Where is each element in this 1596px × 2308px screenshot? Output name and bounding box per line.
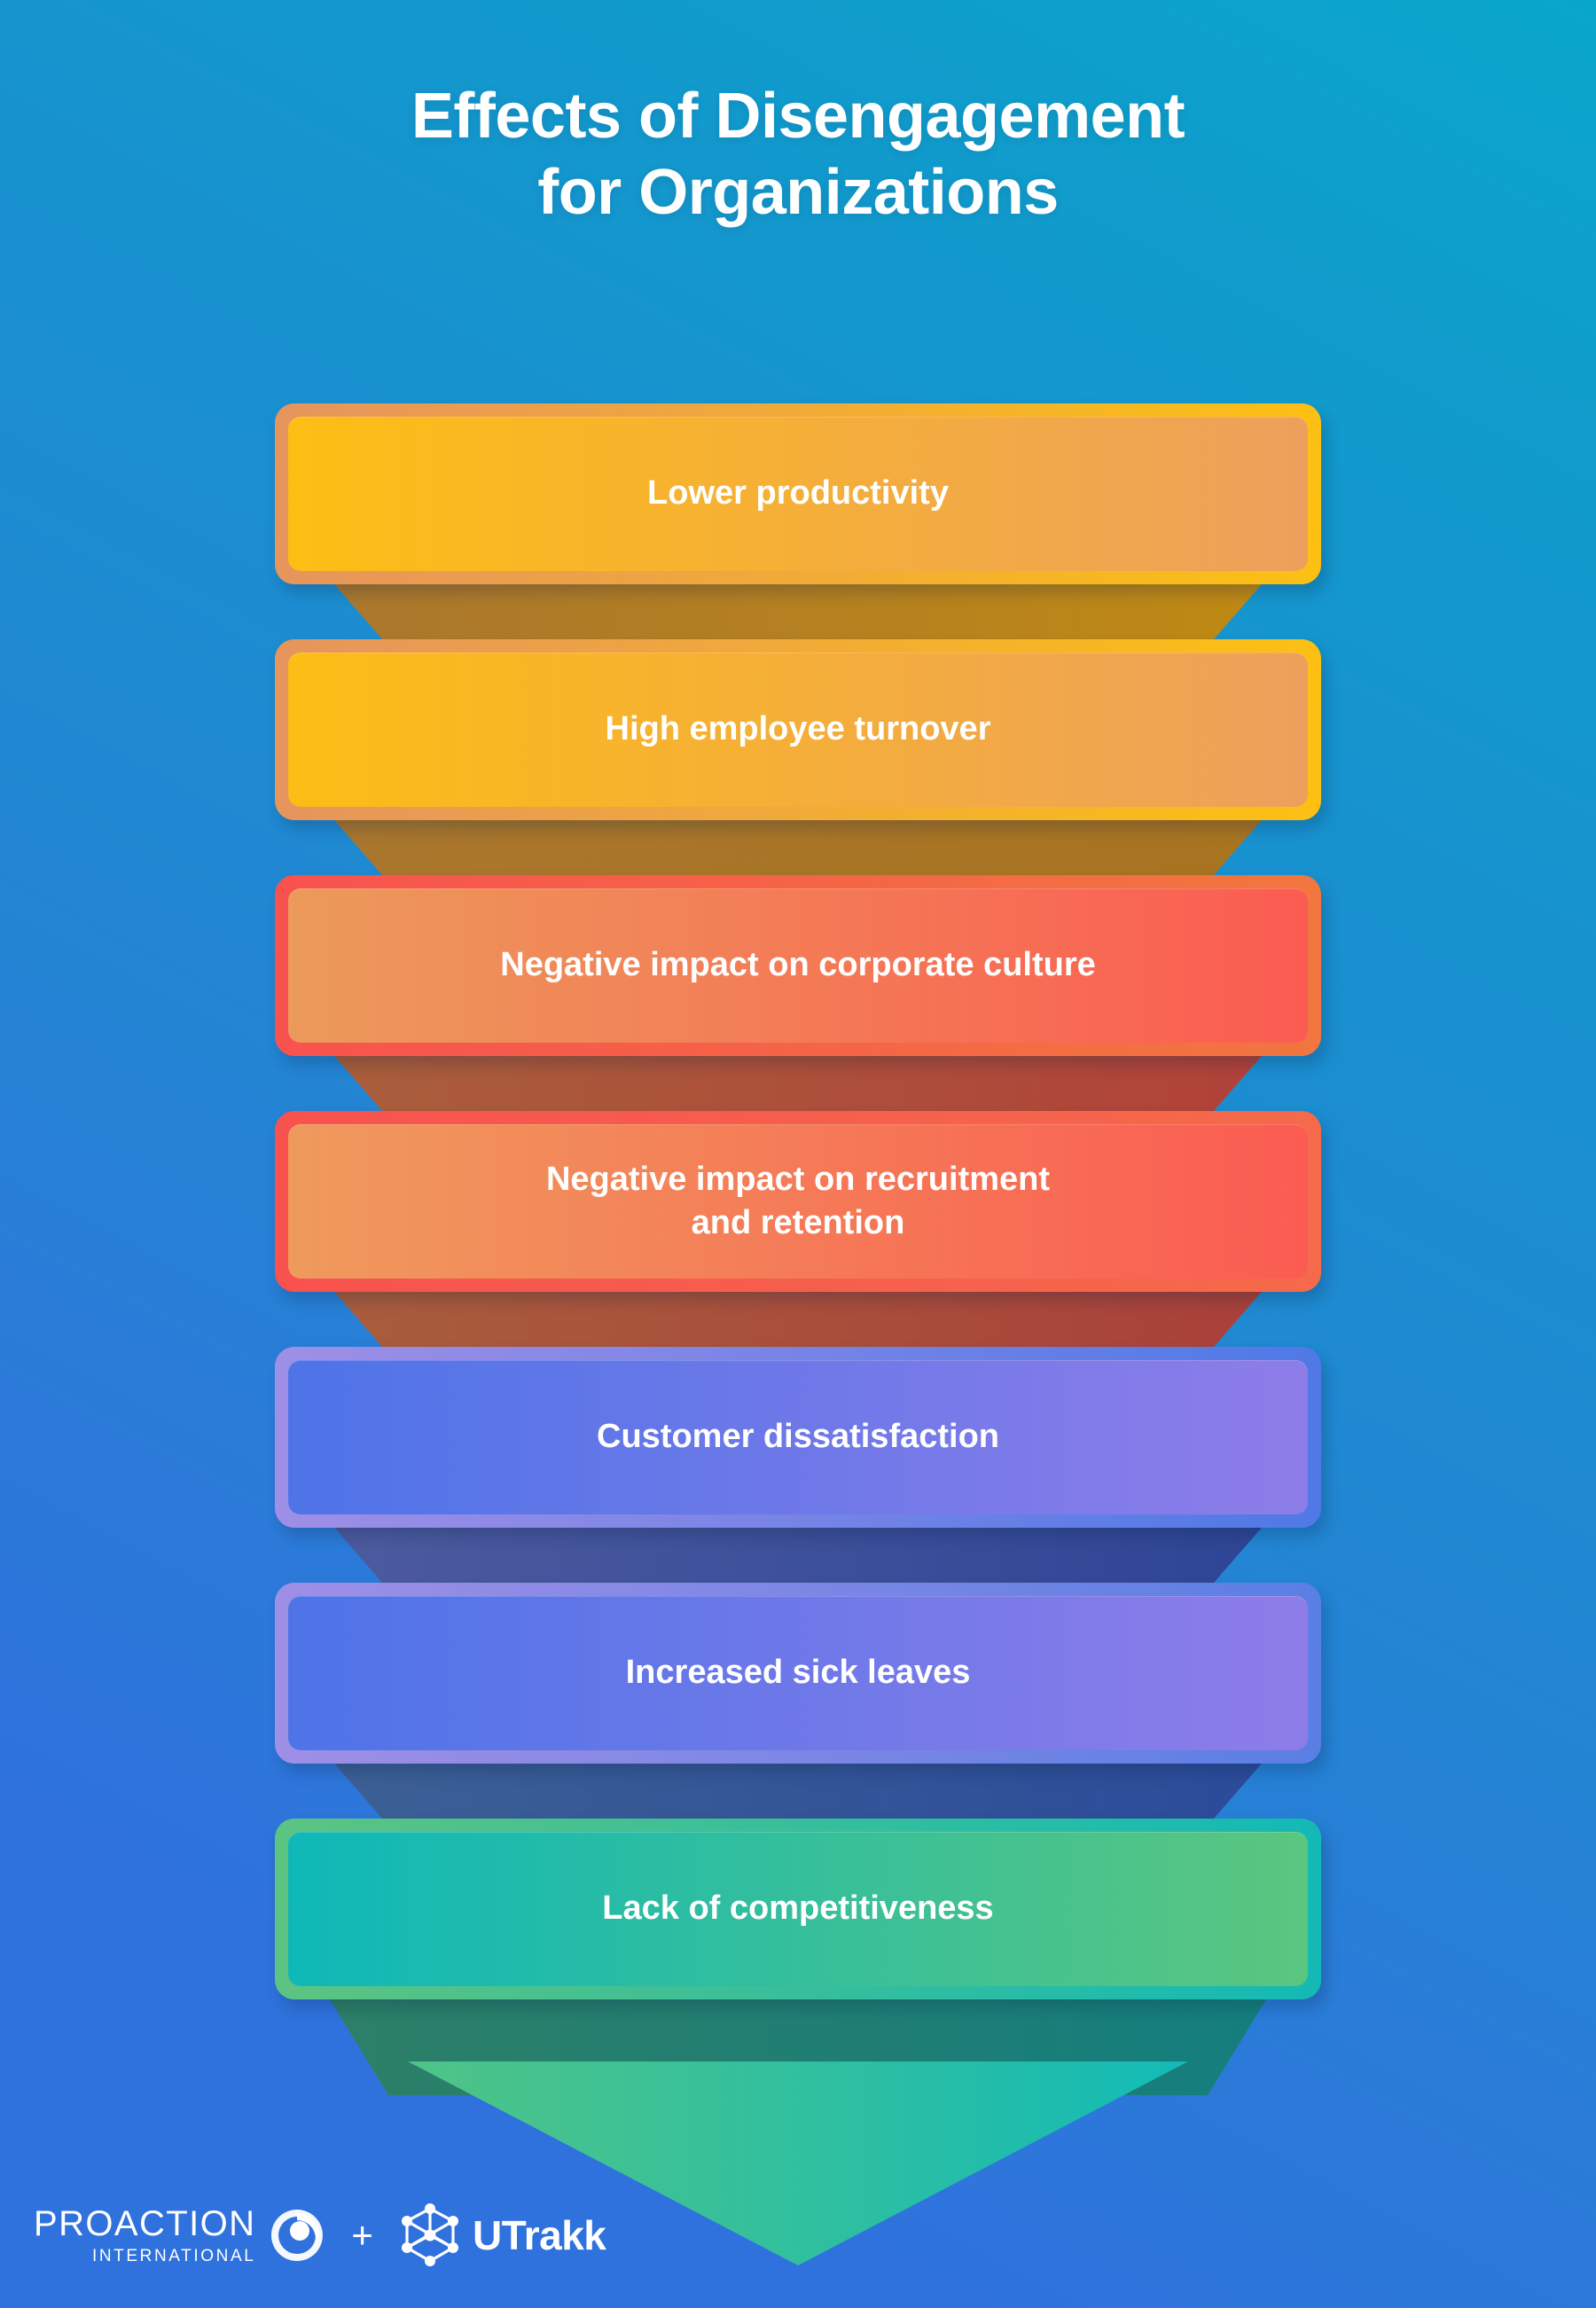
funnel-step: Lower productivity — [0, 403, 1596, 584]
funnel-step-card[interactable]: Negative impact on recruitmentand retent… — [275, 1111, 1321, 1292]
funnel-step-label-text: Increased sick leaves — [626, 1651, 971, 1694]
funnel-step-label-text: Negative impact on corporate culture — [500, 943, 1096, 987]
funnel-connector-shape — [275, 1287, 1321, 1354]
funnel-arrow-head — [408, 2062, 1188, 2265]
funnel-step-card[interactable]: Increased sick leaves — [275, 1583, 1321, 1764]
title-line-1: Effects of Disengagement — [411, 81, 1185, 152]
title-line-2: for Organizations — [106, 154, 1490, 231]
funnel-connector — [275, 579, 1321, 646]
funnel-step: Negative impact on recruitmentand retent… — [0, 1111, 1596, 1292]
funnel-step: Negative impact on corporate culture — [0, 875, 1596, 1056]
funnel-connector — [275, 1051, 1321, 1118]
funnel-connector — [275, 1522, 1321, 1590]
funnel-step-label-text: Negative impact on recruitmentand retent… — [546, 1158, 1050, 1246]
funnel-arrow — [0, 1999, 1596, 2265]
funnel-step-label: Negative impact on corporate culture — [288, 888, 1308, 1043]
funnel-step-label: Negative impact on recruitmentand retent… — [288, 1124, 1308, 1279]
funnel-step-card[interactable]: Customer dissatisfaction — [275, 1347, 1321, 1528]
funnel-step-label-text: Lower productivity — [647, 472, 949, 515]
funnel-step: High employee turnover — [0, 639, 1596, 820]
funnel-step-label-text: High employee turnover — [606, 708, 991, 751]
funnel-connector — [275, 815, 1321, 882]
funnel-step-label: Customer dissatisfaction — [288, 1360, 1308, 1514]
funnel-step-label: Lower productivity — [288, 417, 1308, 571]
funnel-step-label: Lack of competitiveness — [288, 1832, 1308, 1986]
funnel-step-label: Increased sick leaves — [288, 1596, 1308, 1750]
funnel-diagram: Lower productivityHigh employee turnover… — [0, 403, 1596, 2265]
funnel-step-label-text: Lack of competitiveness — [602, 1887, 993, 1930]
funnel-step-label-text: Customer dissatisfaction — [597, 1415, 999, 1459]
funnel-step: Lack of competitiveness — [0, 1819, 1596, 1999]
funnel-connector-shape — [275, 1051, 1321, 1118]
funnel-step-card[interactable]: Negative impact on corporate culture — [275, 875, 1321, 1056]
funnel-step-label: High employee turnover — [288, 653, 1308, 807]
funnel-connector — [275, 1287, 1321, 1354]
funnel-connector-shape — [275, 579, 1321, 646]
funnel-connector — [275, 1758, 1321, 1826]
funnel-step: Increased sick leaves — [0, 1583, 1596, 1764]
funnel-step-card[interactable]: Lower productivity — [275, 403, 1321, 584]
funnel-connector-shape — [275, 1522, 1321, 1590]
infographic-poster: Effects of Disengagement for Organizatio… — [0, 0, 1596, 2308]
funnel-step-card[interactable]: Lack of competitiveness — [275, 1819, 1321, 1999]
funnel-step: Customer dissatisfaction — [0, 1347, 1596, 1528]
page-title: Effects of Disengagement for Organizatio… — [0, 78, 1596, 231]
funnel-connector-shape — [275, 815, 1321, 882]
funnel-step-card[interactable]: High employee turnover — [275, 639, 1321, 820]
funnel-connector-shape — [275, 1758, 1321, 1826]
